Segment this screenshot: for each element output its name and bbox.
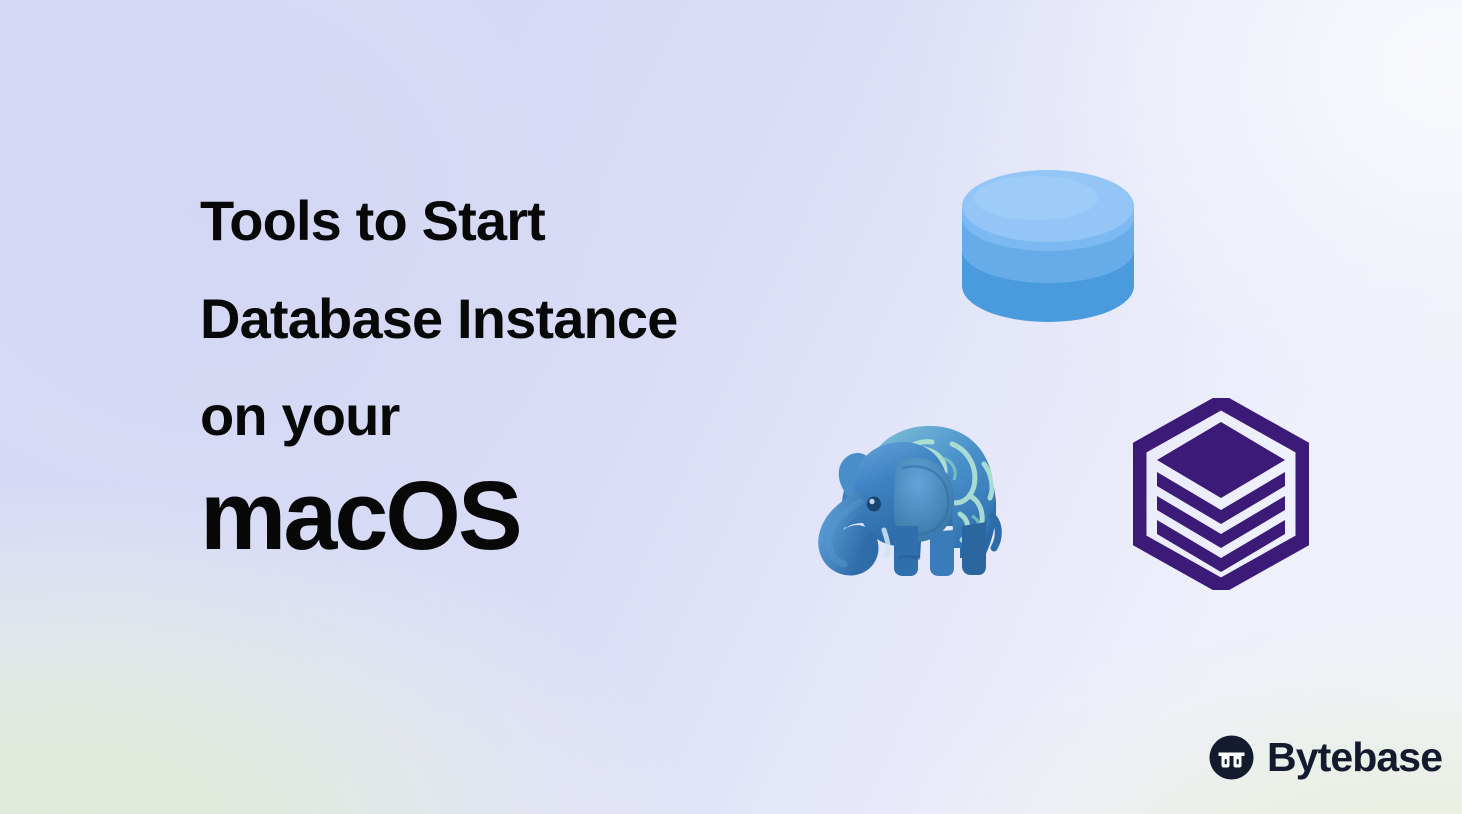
database-cylinder-icon	[960, 168, 1136, 326]
headline-line-1: Tools to Start	[200, 172, 900, 270]
headline-line-3: on your	[200, 368, 900, 464]
bytebase-logo-icon	[1209, 735, 1254, 780]
bytebase-brand-lockup: Bytebase	[1209, 728, 1426, 786]
headline-block: Tools to Start Database Instance on your…	[200, 172, 900, 572]
headline-line-2: Database Instance	[200, 270, 900, 368]
bytebase-wordmark: Bytebase	[1267, 737, 1442, 778]
clickhouse-hexagon-icon	[1133, 398, 1309, 590]
headline-line-4-macos: macOS	[200, 460, 900, 572]
banner-canvas: Tools to Start Database Instance on your…	[0, 0, 1462, 814]
